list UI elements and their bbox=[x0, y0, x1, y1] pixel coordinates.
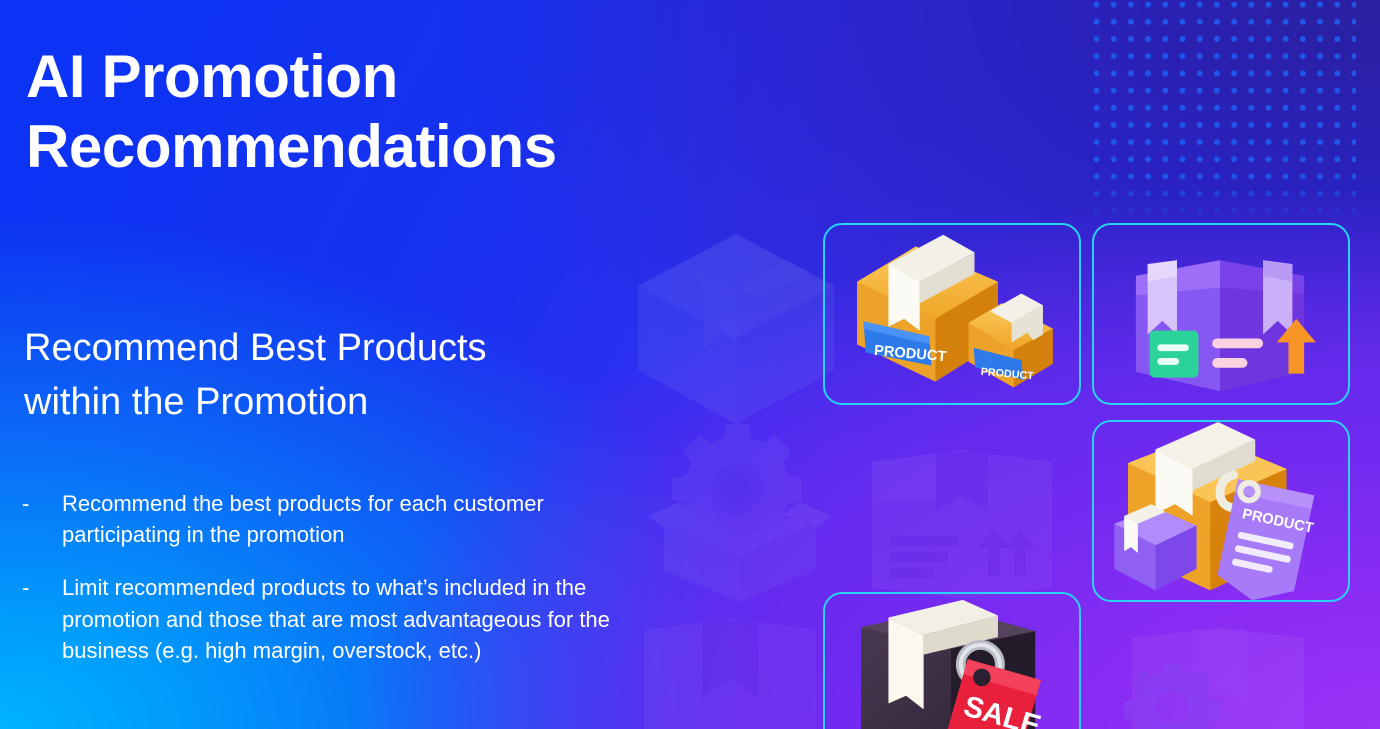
subtitle-line-1: Recommend Best Products bbox=[24, 327, 487, 369]
bullet-text: Recommend the best products for each cus… bbox=[62, 488, 612, 550]
slide-canvas: AI PromotionRecommendations Recommend Be… bbox=[0, 0, 1380, 729]
bullet-list: - Recommend the best products for each c… bbox=[22, 488, 612, 666]
dot-grid-pattern bbox=[1088, 0, 1356, 224]
purple-box-with-growth-arrow-icon bbox=[1094, 225, 1348, 403]
bullet-marker: - bbox=[22, 572, 62, 666]
title-line-1: AI Promotion bbox=[26, 43, 398, 110]
ghost-box-bookmark-icon bbox=[630, 612, 830, 729]
ghost-gear-box-icon bbox=[1098, 626, 1318, 729]
bullet-marker: - bbox=[22, 488, 62, 550]
card-product-boxes[interactable]: PRODUCT PRODUCT bbox=[823, 223, 1081, 405]
ghost-box-arrows-icon bbox=[862, 440, 1062, 600]
subtitle-line-2: within the Promotion bbox=[24, 381, 368, 423]
bullet-text: Limit recommended products to what’s inc… bbox=[62, 572, 612, 666]
ghost-box-ribbon-icon bbox=[624, 228, 839, 428]
card-purple-gift-box[interactable] bbox=[1092, 223, 1350, 405]
card-sale-tag[interactable]: SALE bbox=[823, 592, 1081, 729]
title-line-2: Recommendations bbox=[26, 113, 557, 180]
list-item: - Recommend the best products for each c… bbox=[22, 488, 612, 550]
list-item: - Limit recommended products to what’s i… bbox=[22, 572, 612, 666]
two-orange-product-boxes-icon: PRODUCT PRODUCT bbox=[825, 225, 1079, 403]
dark-box-with-sale-tag-icon: SALE bbox=[825, 594, 1079, 729]
orange-box-with-product-tag-icon: PRODUCT bbox=[1094, 422, 1348, 600]
page-title: AI PromotionRecommendations bbox=[26, 42, 726, 182]
page-subtitle: Recommend Best Productswithin the Promot… bbox=[24, 322, 624, 430]
card-product-tag[interactable]: PRODUCT bbox=[1092, 420, 1350, 602]
ghost-gear-in-open-box-icon bbox=[640, 420, 840, 605]
